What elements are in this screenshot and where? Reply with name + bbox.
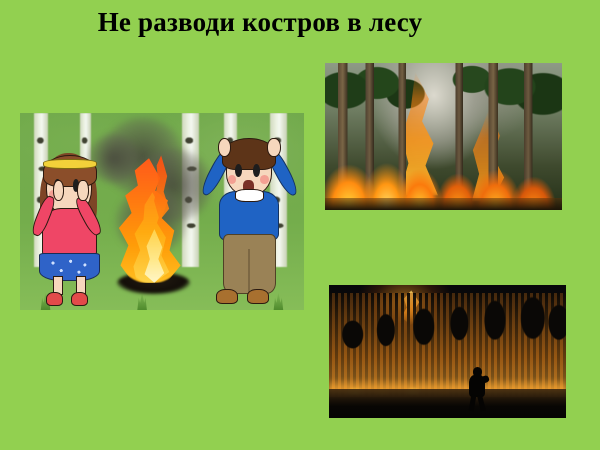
boy-cheek-right: [260, 175, 269, 184]
boy-shoe-left: [216, 289, 238, 305]
forest-background: [20, 113, 304, 310]
girl-headband: [43, 159, 97, 169]
boy-pants: [223, 234, 276, 294]
girl-skirt: [39, 253, 100, 280]
boy-hand-right: [267, 138, 281, 158]
boy-eye-left: [235, 164, 242, 176]
girl-hand-left: [53, 180, 65, 201]
cartoon-illustration[interactable]: [20, 113, 304, 310]
boy-shoe-right: [247, 289, 269, 305]
tree-silhouettes: [329, 296, 566, 352]
dark-field: [329, 389, 566, 418]
daytime-forest-fire-photo[interactable]: [325, 63, 562, 210]
campfire-icon: [105, 152, 202, 294]
page-title: Не разводи костров в лесу: [0, 6, 520, 38]
silhouette-leg-left: [468, 394, 476, 411]
silhouette-leg-right: [477, 394, 486, 411]
grass-tuft: [134, 292, 151, 310]
girl-shoe-right: [71, 292, 88, 307]
burnt-ground: [325, 198, 562, 210]
boy-collar: [235, 189, 264, 201]
girl-shoe-left: [46, 292, 63, 307]
silhouette-arm: [479, 375, 490, 384]
girl-character: [34, 147, 111, 309]
boy-character: [207, 131, 292, 308]
night-forest-fire-photo[interactable]: [329, 285, 566, 418]
girl-hand-right: [77, 180, 89, 201]
person-silhouette: [464, 367, 490, 410]
slide-canvas: Не разводи костров в лесу: [0, 0, 600, 450]
